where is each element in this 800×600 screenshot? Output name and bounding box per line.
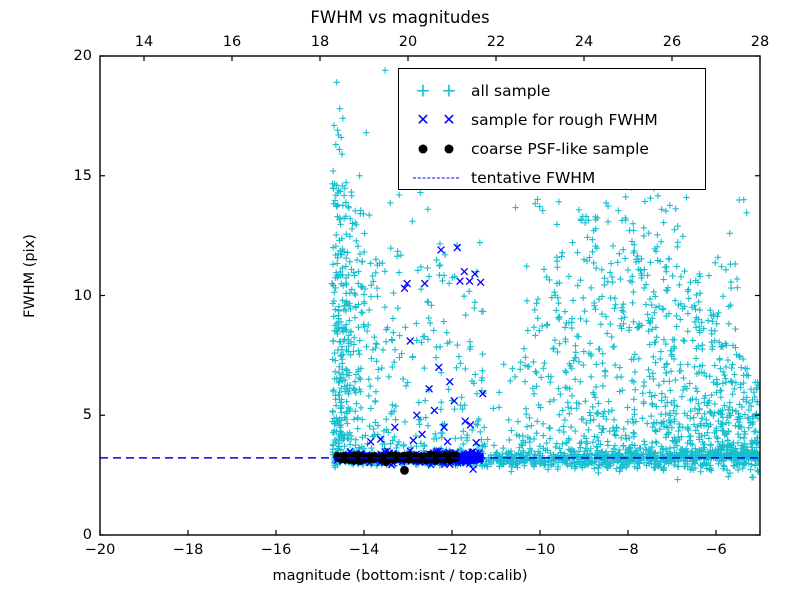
marker-plus [669, 273, 675, 279]
legend-item[interactable]: ++all sample [405, 76, 550, 106]
marker-plus [547, 425, 553, 431]
marker-plus [341, 192, 347, 198]
marker-plus [725, 357, 731, 363]
marker-plus [677, 424, 683, 430]
marker-plus [441, 272, 447, 278]
marker-plus [433, 344, 439, 350]
marker-plus [674, 263, 680, 269]
x-tick-label-bottom: −12 [437, 542, 468, 558]
marker-plus [666, 256, 672, 262]
marker-plus [428, 302, 434, 308]
marker-plus [612, 431, 618, 437]
legend-item[interactable]: ✕✕sample for rough FWHM [405, 105, 658, 135]
marker-plus [330, 185, 336, 191]
marker-plus [355, 243, 361, 249]
marker-plus [552, 337, 558, 343]
marker-plus [594, 411, 600, 417]
marker-plus [344, 249, 350, 255]
marker-plus [648, 413, 654, 419]
marker-plus [588, 285, 594, 291]
marker-plus [346, 317, 352, 323]
marker-cross [391, 424, 398, 431]
marker-plus [729, 391, 735, 397]
marker-plus [667, 202, 673, 208]
marker-plus [380, 347, 386, 353]
marker-plus [728, 279, 734, 285]
legend-marker-plus-icon: ++ [405, 76, 467, 106]
marker-plus [706, 272, 712, 278]
marker-plus [727, 399, 733, 405]
marker-plus [569, 319, 575, 325]
legend-label: coarse PSF-like sample [467, 140, 649, 158]
marker-plus [623, 436, 629, 442]
marker-plus [453, 365, 459, 371]
marker-plus [693, 385, 699, 391]
marker-plus [531, 307, 537, 313]
marker-plus [550, 346, 556, 352]
marker-plus [366, 376, 372, 382]
marker-plus [680, 233, 686, 239]
marker-plus [353, 400, 359, 406]
marker-cross [461, 268, 468, 275]
marker-plus [551, 345, 557, 351]
legend-marker-dot-icon [405, 134, 467, 164]
marker-cross [431, 407, 438, 414]
marker-plus [370, 426, 376, 432]
marker-plus [690, 337, 696, 343]
marker-plus [368, 293, 374, 299]
marker-plus [373, 270, 379, 276]
legend-item[interactable]: coarse PSF-like sample [405, 134, 649, 164]
marker-plus [424, 265, 430, 271]
y-axis-label: FWHM (pix) [22, 186, 38, 366]
marker-cross [438, 247, 445, 254]
marker-cross [410, 437, 417, 444]
marker-plus [608, 260, 614, 266]
marker-plus [354, 425, 360, 431]
marker-plus [675, 239, 681, 245]
marker-plus [612, 295, 618, 301]
marker-plus [658, 239, 664, 245]
marker-cross [421, 280, 428, 287]
marker-plus [379, 365, 385, 371]
marker-plus [660, 307, 666, 313]
marker-plus [471, 305, 477, 311]
marker-plus [553, 307, 559, 313]
marker-plus [663, 264, 669, 270]
marker-plus [720, 293, 726, 299]
marker-plus [332, 197, 338, 203]
marker-plus [706, 435, 712, 441]
marker-plus [343, 179, 349, 185]
marker-plus [398, 252, 404, 258]
marker-plus [332, 368, 338, 374]
marker-plus [686, 380, 692, 386]
marker-plus [535, 296, 541, 302]
marker-plus [454, 342, 460, 348]
marker-plus [367, 383, 373, 389]
marker-plus [426, 273, 432, 279]
legend-label: sample for rough FWHM [467, 111, 658, 129]
marker-plus [382, 67, 388, 73]
marker-plus [343, 255, 349, 261]
marker-plus [601, 282, 607, 288]
marker-plus [329, 281, 335, 287]
marker-plus [394, 253, 400, 259]
marker-plus [356, 351, 362, 357]
marker-plus [672, 297, 678, 303]
marker-plus [469, 427, 475, 433]
x-tick-label-bottom: −18 [173, 542, 204, 558]
marker-plus [747, 466, 753, 472]
marker-plus [496, 389, 502, 395]
marker-plus [330, 338, 336, 344]
marker-plus [533, 370, 539, 376]
marker-plus [652, 359, 658, 365]
marker-plus [735, 467, 741, 473]
marker-plus [605, 398, 611, 404]
marker-plus [382, 268, 388, 274]
marker-plus [707, 307, 713, 313]
marker-plus [721, 372, 727, 378]
marker-plus [331, 289, 337, 295]
marker-plus [528, 422, 534, 428]
marker-plus [677, 316, 683, 322]
marker-plus [652, 392, 658, 398]
marker-plus [611, 305, 617, 311]
x-tick-label-bottom: −8 [617, 542, 638, 558]
marker-plus [531, 324, 537, 330]
marker-plus [351, 272, 357, 278]
marker-plus [524, 424, 530, 430]
marker-plus [686, 295, 692, 301]
marker-plus [523, 406, 529, 412]
marker-plus [712, 401, 718, 407]
marker-plus [554, 349, 560, 355]
marker-plus [425, 315, 431, 321]
marker-plus [675, 428, 681, 434]
marker-plus [630, 319, 636, 325]
marker-plus [343, 263, 349, 269]
marker-plus [477, 239, 483, 245]
x-tick-label-bottom: −10 [525, 542, 556, 558]
marker-plus [723, 379, 729, 385]
marker-dot [395, 453, 402, 460]
marker-plus [334, 127, 340, 133]
marker-plus [535, 315, 541, 321]
marker-plus [676, 368, 682, 374]
marker-plus [659, 206, 665, 212]
marker-plus [630, 289, 636, 295]
marker-plus [456, 353, 462, 359]
legend-label: tentative FWHM [467, 169, 595, 187]
x-axis-label: magnitude (bottom:isnt / top:calib) [0, 568, 800, 584]
marker-plus [522, 354, 528, 360]
marker-plus [347, 441, 353, 447]
marker-plus [685, 310, 691, 316]
marker-plus [570, 297, 576, 303]
marker-plus [402, 419, 408, 425]
marker-plus [672, 377, 678, 383]
marker-cross [477, 279, 484, 286]
marker-cross [435, 364, 442, 371]
marker-plus [431, 327, 437, 333]
marker-plus [634, 253, 640, 259]
marker-plus [680, 375, 686, 381]
marker-plus [361, 230, 367, 236]
marker-plus [602, 373, 608, 379]
marker-cross [407, 338, 414, 345]
marker-plus [640, 390, 646, 396]
marker-plus [383, 416, 389, 422]
marker-plus [353, 437, 359, 443]
marker-plus [349, 226, 355, 232]
marker-plus [621, 314, 627, 320]
marker-plus [580, 416, 586, 422]
marker-plus [621, 426, 627, 432]
marker-plus [526, 363, 532, 369]
marker-plus [629, 300, 635, 306]
marker-plus [349, 193, 355, 199]
marker-plus [444, 329, 450, 335]
marker-plus [569, 393, 575, 399]
marker-plus [644, 420, 650, 426]
marker-plus [437, 241, 443, 247]
marker-plus [500, 445, 506, 451]
marker-plus [617, 276, 623, 282]
marker-plus [372, 399, 378, 405]
marker-plus [683, 194, 689, 200]
marker-plus [715, 435, 721, 441]
marker-plus [413, 443, 419, 449]
marker-plus [622, 255, 628, 261]
marker-plus [332, 306, 338, 312]
marker-plus [357, 337, 363, 343]
marker-plus [509, 366, 515, 372]
marker-plus [732, 261, 738, 267]
marker-plus [425, 423, 431, 429]
marker-plus [594, 409, 600, 415]
marker-plus [554, 254, 560, 260]
marker-plus [366, 393, 372, 399]
marker-plus [694, 388, 700, 394]
marker-plus [544, 322, 550, 328]
marker-plus [395, 305, 401, 311]
marker-plus [572, 343, 578, 349]
marker-plus [386, 374, 392, 380]
marker-plus [569, 325, 575, 331]
marker-plus [687, 415, 693, 421]
marker-plus [462, 312, 468, 318]
marker-plus [400, 376, 406, 382]
marker-plus [577, 316, 583, 322]
marker-plus [438, 434, 444, 440]
marker-plus [620, 309, 626, 315]
marker-plus [581, 308, 587, 314]
marker-plus [641, 438, 647, 444]
marker-plus [599, 360, 605, 366]
marker-plus [467, 339, 473, 345]
marker-plus [340, 202, 346, 208]
marker-plus [460, 441, 466, 447]
marker-plus [655, 193, 661, 199]
marker-plus [433, 257, 439, 263]
marker-plus [741, 196, 747, 202]
marker-plus [599, 426, 605, 432]
marker-plus [731, 386, 737, 392]
marker-plus [631, 433, 637, 439]
marker-plus [748, 386, 754, 392]
marker-plus [734, 276, 740, 282]
marker-plus [416, 399, 422, 405]
marker-plus [590, 439, 596, 445]
marker-plus [517, 366, 523, 372]
marker-plus [678, 274, 684, 280]
marker-plus [474, 391, 480, 397]
x-tick-label-top: 22 [487, 34, 505, 50]
marker-plus [670, 336, 676, 342]
marker-plus [562, 384, 568, 390]
marker-plus [642, 198, 648, 204]
marker-plus [660, 219, 666, 225]
marker-plus [724, 467, 730, 473]
marker-plus [422, 397, 428, 403]
marker-plus [418, 286, 424, 292]
marker-plus [661, 378, 667, 384]
marker-plus [728, 379, 734, 385]
marker-plus [666, 378, 672, 384]
marker-plus [581, 256, 587, 262]
marker-plus [547, 435, 553, 441]
marker-plus [347, 259, 353, 265]
marker-plus [389, 337, 395, 343]
marker-plus [631, 396, 637, 402]
marker-plus [663, 208, 669, 214]
x-tick-label-top: 28 [751, 34, 769, 50]
marker-plus [334, 260, 340, 266]
marker-plus [712, 328, 718, 334]
marker-plus [395, 248, 401, 254]
marker-plus [368, 405, 374, 411]
marker-plus [355, 347, 361, 353]
marker-plus [604, 330, 610, 336]
marker-plus [331, 350, 337, 356]
marker-plus [338, 409, 344, 415]
marker-plus [630, 429, 636, 435]
marker-plus [600, 350, 606, 356]
marker-plus [404, 379, 410, 385]
marker-plus [346, 205, 352, 211]
marker-plus [530, 359, 536, 365]
marker-plus [588, 374, 594, 380]
marker-plus [572, 428, 578, 434]
marker-plus [556, 341, 562, 347]
marker-plus [651, 289, 657, 295]
marker-plus [425, 299, 431, 305]
marker-plus [356, 173, 362, 179]
marker-plus [576, 359, 582, 365]
marker-plus [353, 238, 359, 244]
marker-plus [540, 432, 546, 438]
marker-plus [708, 339, 714, 345]
marker-plus [368, 445, 374, 451]
marker-plus [343, 281, 349, 287]
marker-plus [358, 309, 364, 315]
marker-plus [388, 336, 394, 342]
marker-plus [525, 327, 531, 333]
x-tick-label-bottom: −20 [85, 542, 116, 558]
marker-plus [679, 393, 685, 399]
marker-plus [540, 365, 546, 371]
marker-plus [466, 288, 472, 294]
marker-plus [643, 301, 649, 307]
marker-plus [374, 285, 380, 291]
marker-plus [586, 409, 592, 415]
marker-plus [693, 324, 699, 330]
marker-plus [673, 313, 679, 319]
marker-plus [657, 356, 663, 362]
marker-plus [369, 273, 375, 279]
marker-plus [421, 365, 427, 371]
marker-plus [538, 374, 544, 380]
x-tick-label-top: 24 [575, 34, 593, 50]
marker-plus [741, 435, 747, 441]
marker-plus [367, 260, 373, 266]
legend-item[interactable]: tentative FWHM [405, 163, 595, 193]
marker-plus [712, 362, 718, 368]
marker-plus [541, 266, 547, 272]
marker-plus [555, 385, 561, 391]
marker-plus [581, 348, 587, 354]
marker-plus [611, 417, 617, 423]
marker-plus [591, 303, 597, 309]
marker-dot [400, 466, 409, 475]
marker-plus [339, 360, 345, 366]
marker-dot [384, 453, 391, 460]
marker-plus [616, 250, 622, 256]
marker-plus [506, 437, 512, 443]
marker-plus [562, 324, 568, 330]
legend-marker-dashed-line-icon [405, 163, 467, 193]
marker-plus [603, 416, 609, 422]
marker-plus [612, 302, 618, 308]
marker-plus [595, 400, 601, 406]
marker-plus [639, 415, 645, 421]
marker-plus [409, 218, 415, 224]
marker-plus [562, 368, 568, 374]
marker-plus [556, 427, 562, 433]
y-tick-label: 20 [74, 48, 92, 64]
y-tick-label: 0 [83, 527, 92, 543]
marker-plus [654, 232, 660, 238]
marker-plus [681, 338, 687, 344]
marker-plus [561, 429, 567, 435]
marker-plus [574, 333, 580, 339]
marker-plus [451, 406, 457, 412]
marker-plus [496, 404, 502, 410]
marker-plus [554, 440, 560, 446]
marker-plus [366, 307, 372, 313]
marker-plus [565, 404, 571, 410]
marker-plus [636, 356, 642, 362]
marker-plus [589, 249, 595, 255]
marker-plus [462, 366, 468, 372]
marker-plus [611, 343, 617, 349]
marker-plus [531, 391, 537, 397]
x-tick-label-bottom: −6 [705, 542, 726, 558]
marker-plus [337, 105, 343, 111]
marker-plus [543, 440, 549, 446]
